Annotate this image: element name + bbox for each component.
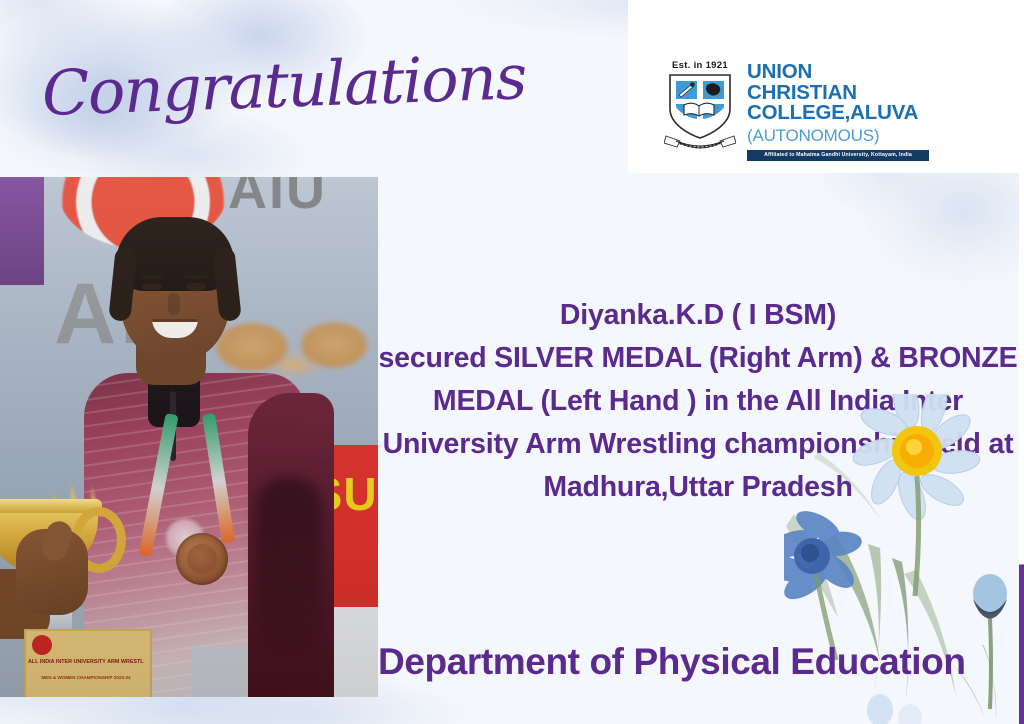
wordmark-autonomous: (AUTONOMOUS) xyxy=(747,125,929,146)
college-wordmark: UNION CHRISTIAN COLLEGE,ALUVA (AUTONOMOU… xyxy=(747,60,929,161)
crest-ribbon-banner xyxy=(664,132,736,154)
congratulations-poster: Congratulations Est. in 1921 xyxy=(0,0,1024,724)
athlete-photo: AIU AIU PSU xyxy=(0,177,378,697)
department-label: Department of Physical Education xyxy=(378,640,1024,684)
wordmark-line-2: CHRISTIAN xyxy=(747,83,929,104)
achievement-message: Diyanka.K.D ( I BSM) secured SILVER MEDA… xyxy=(372,294,1024,509)
wordmark-line-3: COLLEGE,ALUVA xyxy=(747,103,929,124)
message-line-4: University Arm Wrestling championship he… xyxy=(372,423,1024,466)
crest-established-label: Est. in 1921 xyxy=(664,60,736,71)
blue-cornflower xyxy=(784,505,863,660)
page-title: Congratulations xyxy=(40,31,463,142)
wordmark-line-1: UNION xyxy=(747,62,929,83)
college-logo: Est. in 1921 xyxy=(664,60,929,161)
message-line-2: secured SILVER MEDAL (Right Arm) & BRONZ… xyxy=(372,337,1024,380)
shield-icon xyxy=(669,73,731,139)
message-line-5: Madhura,Uttar Pradesh xyxy=(372,466,1024,509)
college-crest-icon: Est. in 1921 xyxy=(664,60,736,156)
affiliation-bar: Affiliated to Mahatma Gandhi University,… xyxy=(747,150,929,161)
photo-vignette xyxy=(0,177,378,697)
message-line-3: MEDAL (Left Hand ) in the All India Inte… xyxy=(372,380,1024,423)
college-logo-panel: Est. in 1921 xyxy=(628,0,1024,173)
small-bud-bottom xyxy=(867,694,922,724)
message-line-1: Diyanka.K.D ( I BSM) xyxy=(372,294,1024,337)
